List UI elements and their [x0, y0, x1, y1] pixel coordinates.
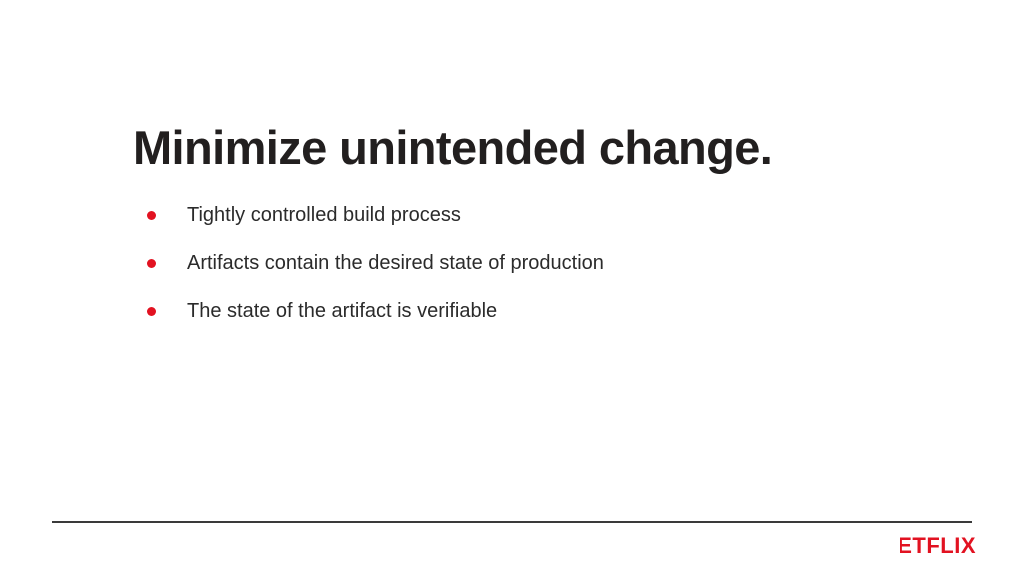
bullet-dot-icon	[147, 259, 156, 268]
bullet-list: Tightly controlled build process Artifac…	[133, 203, 953, 347]
list-item-label: Tightly controlled build process	[187, 203, 953, 227]
list-item: Artifacts contain the desired state of p…	[133, 251, 953, 299]
page-title: Minimize unintended change.	[133, 121, 933, 175]
list-item: The state of the artifact is verifiable	[133, 299, 953, 347]
presentation-slide: Minimize unintended change. Tightly cont…	[0, 0, 1024, 576]
list-item: Tightly controlled build process	[133, 203, 953, 251]
list-item-label: The state of the artifact is verifiable	[187, 299, 953, 323]
netflix-logo: NETFLIX	[900, 534, 976, 558]
footer-divider	[52, 521, 972, 523]
bullet-dot-icon	[147, 211, 156, 220]
bullet-dot-icon	[147, 307, 156, 316]
netflix-wordmark-icon: NETFLIX	[900, 534, 976, 558]
netflix-logo-label: NETFLIX	[900, 534, 976, 558]
list-item-label: Artifacts contain the desired state of p…	[187, 251, 953, 275]
